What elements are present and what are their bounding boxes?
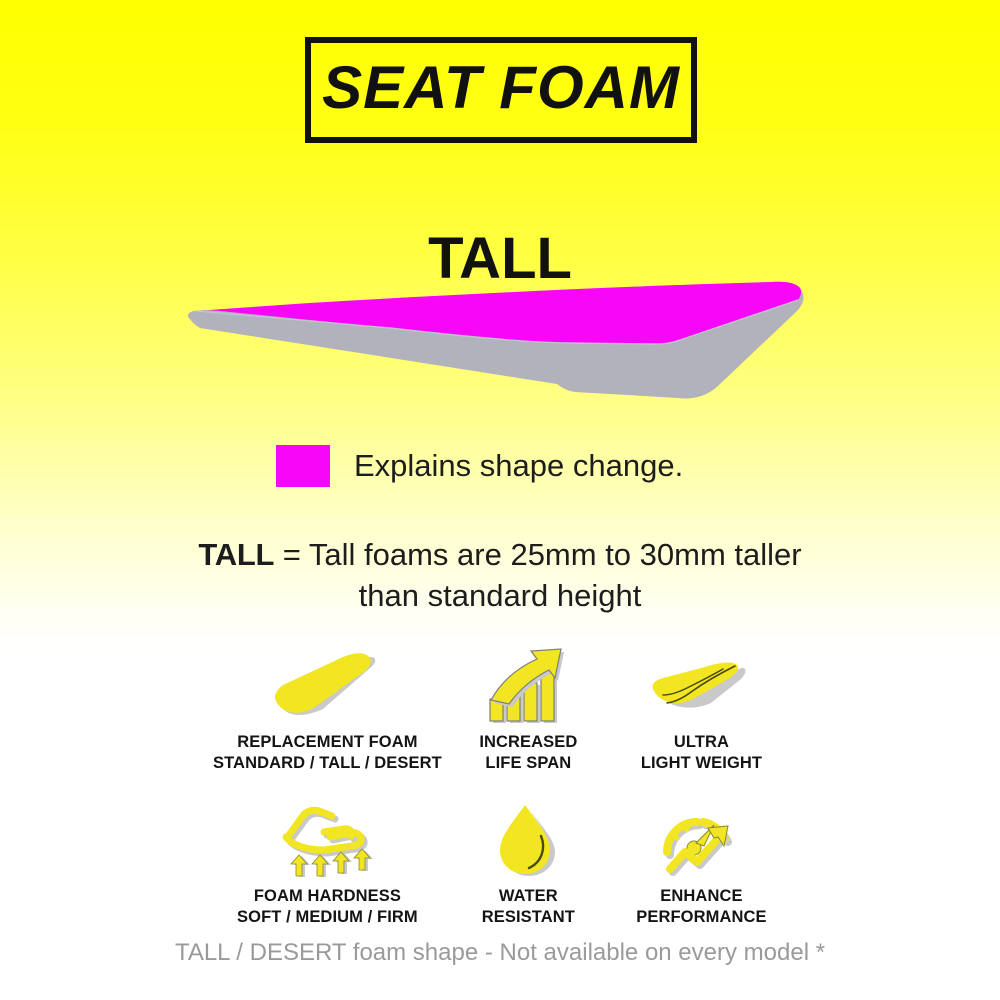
feature-label-line-1: REPLACEMENT FOAM [237, 733, 417, 751]
feature-increased-life-span: INCREASED LIFE SPAN [442, 645, 615, 785]
seat-foam-cross-section-figure [160, 280, 840, 405]
feature-foam-hardness: FOAM HARDNESS SOFT / MEDIUM / FIRM [213, 799, 442, 939]
feature-label-line-2: STANDARD / TALL / DESERT [213, 754, 442, 772]
feature-label: WATER RESISTANT [482, 886, 575, 928]
feature-grid: REPLACEMENT FOAM STANDARD / TALL / DESER… [213, 645, 788, 939]
feature-label-line-1: ULTRA [674, 733, 729, 751]
speedometer-arrow-icon [654, 799, 748, 881]
infographic-page: SEAT FOAM TALL Explains shape change. TA… [0, 0, 1000, 1000]
feature-label-line-2: LIGHT WEIGHT [641, 754, 762, 772]
feature-label-line-2: LIFE SPAN [485, 754, 571, 772]
feature-ultra-light-weight: ULTRA LIGHT WEIGHT [615, 645, 788, 785]
variant-keyword: TALL [198, 537, 274, 572]
feature-label: FOAM HARDNESS SOFT / MEDIUM / FIRM [237, 886, 418, 928]
feature-label-line-1: WATER [499, 887, 558, 905]
feature-water-resistant: WATER RESISTANT [442, 799, 615, 939]
page-title: SEAT FOAM [322, 58, 680, 118]
footer-note: TALL / DESERT foam shape - Not available… [0, 939, 1000, 967]
feature-label: REPLACEMENT FOAM STANDARD / TALL / DESER… [213, 732, 442, 774]
feature-label-line-1: FOAM HARDNESS [254, 887, 401, 905]
feature-label-line-2: RESISTANT [482, 908, 575, 926]
legend-color-swatch [276, 445, 330, 487]
feature-label-line-2: PERFORMANCE [636, 908, 766, 926]
legend: Explains shape change. [276, 445, 683, 487]
variant-description-line-2: than standard height [359, 578, 642, 613]
water-droplet-icon [493, 799, 563, 881]
hand-with-up-arrows-icon [271, 799, 383, 881]
legend-label: Explains shape change. [354, 448, 683, 484]
feather-icon [649, 645, 753, 727]
feature-label-line-2: SOFT / MEDIUM / FIRM [237, 908, 418, 926]
feature-label: ULTRA LIGHT WEIGHT [641, 732, 762, 774]
feature-enhance-performance: ENHANCE PERFORMANCE [615, 799, 788, 939]
feature-label-line-1: ENHANCE [660, 887, 742, 905]
seat-foam-icon [271, 645, 383, 727]
variant-description: TALL = Tall foams are 25mm to 30mm talle… [100, 534, 900, 616]
variant-description-line-1: = Tall foams are 25mm to 30mm taller [274, 537, 801, 572]
feature-label: ENHANCE PERFORMANCE [636, 886, 766, 928]
feature-label-line-1: INCREASED [479, 733, 577, 751]
feature-replacement-foam: REPLACEMENT FOAM STANDARD / TALL / DESER… [213, 645, 442, 785]
feature-label: INCREASED LIFE SPAN [479, 732, 577, 774]
rising-bar-chart-arrow-icon [482, 645, 574, 727]
page-title-box: SEAT FOAM [305, 37, 697, 143]
